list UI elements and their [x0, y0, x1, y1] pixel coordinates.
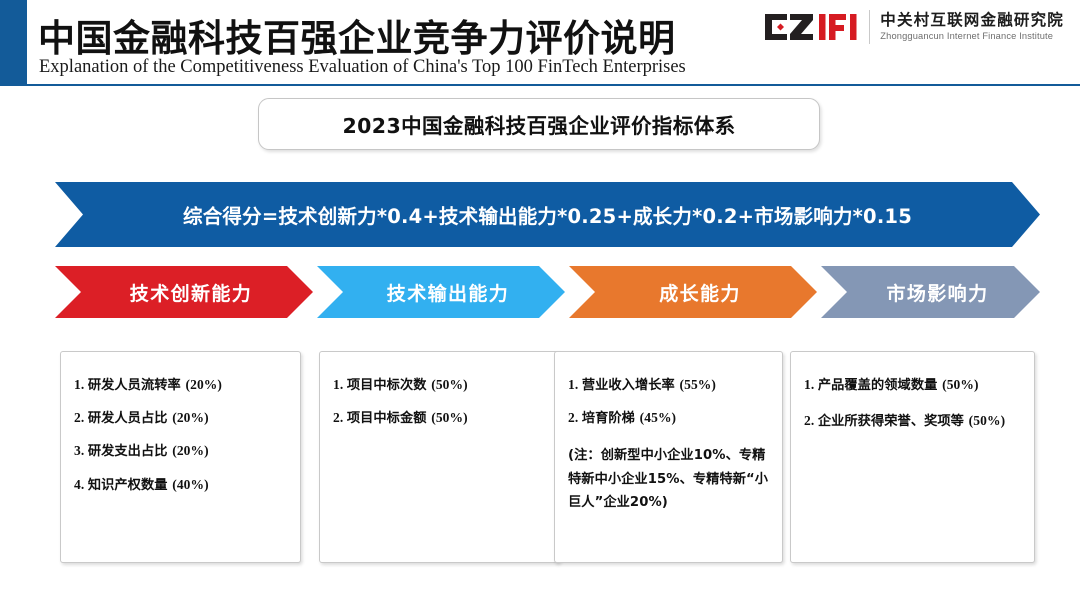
- score-formula-banner: 综合得分=技术创新力*0.4+技术输出能力*0.25+成长力*0.2+市场影响力…: [55, 182, 1040, 247]
- header-divider-rule: [0, 84, 1080, 86]
- indicator-name: 培育阶梯: [582, 411, 640, 426]
- indicator-card-tech-output: 1. 项目中标次数 (50%)2. 项目中标金额 (50%): [319, 351, 560, 563]
- indicator-card-market-influence: 1. 产品覆盖的领域数量 (50%)2. 企业所获得荣誉、奖项等 (50%): [790, 351, 1035, 563]
- indicator-weight: (45%): [640, 410, 677, 425]
- indicator-item: 3. 研发支出占比 (20%): [74, 444, 287, 458]
- category-chevron-tech-output: 技术输出能力: [317, 266, 565, 318]
- category-chevron-row: 技术创新能力 技术输出能力 成长能力 市场影响力: [55, 266, 1040, 318]
- indicator-item: 1. 项目中标次数 (50%): [333, 378, 546, 392]
- indicator-weight: (20%): [172, 443, 209, 458]
- category-label: 技术输出能力: [373, 279, 509, 306]
- indicator-name: 企业所获得荣誉、奖项等: [818, 414, 969, 429]
- indicator-index: 4.: [74, 477, 88, 492]
- category-label: 成长能力: [645, 279, 741, 306]
- category-chevron-tech-innovation: 技术创新能力: [55, 266, 313, 318]
- indicator-name: 知识产权数量: [88, 478, 172, 493]
- indicator-name: 研发支出占比: [88, 444, 172, 459]
- indicator-weight: (50%): [431, 410, 468, 425]
- logo-name-cn: 中关村互联网金融研究院: [880, 12, 1064, 29]
- indicator-name: 营业收入增长率: [582, 378, 680, 393]
- indicator-name: 研发人员占比: [88, 411, 172, 426]
- indicator-name: 研发人员流转率: [88, 378, 186, 393]
- indicator-name: 产品覆盖的领域数量: [818, 378, 942, 393]
- indicator-weight: (55%): [680, 377, 717, 392]
- indicator-index: 1.: [568, 377, 582, 392]
- category-chevron-market-influence: 市场影响力: [821, 266, 1040, 318]
- indicator-index: 1.: [804, 377, 818, 392]
- category-label: 技术创新能力: [116, 279, 252, 306]
- indicator-item: 1. 产品覆盖的领域数量 (50%): [804, 378, 1021, 392]
- indicator-index: 3.: [74, 443, 88, 458]
- indicator-item: 2. 培育阶梯 (45%): [568, 411, 769, 425]
- indicator-item: 4. 知识产权数量 (40%): [74, 478, 287, 492]
- indicator-weight: (20%): [172, 410, 209, 425]
- indicator-item: 1. 营业收入增长率 (55%): [568, 378, 769, 392]
- indicator-index: 1.: [74, 377, 88, 392]
- indicator-weight: (50%): [942, 377, 979, 392]
- indicator-weight: (40%): [172, 477, 209, 492]
- page-title-en: Explanation of the Competitiveness Evalu…: [39, 57, 686, 78]
- index-system-title-text: 2023中国金融科技百强企业评价指标体系: [342, 109, 735, 139]
- index-system-title-box: 2023中国金融科技百强企业评价指标体系: [258, 98, 820, 150]
- indicator-index: 2.: [74, 410, 88, 425]
- indicator-card-row: 1. 研发人员流转率 (20%)2. 研发人员占比 (20%)3. 研发支出占比…: [60, 351, 1035, 563]
- slide-root: 中国金融科技百强企业竞争力评价说明 Explanation of the Com…: [0, 0, 1080, 608]
- indicator-item: 1. 研发人员流转率 (20%): [74, 378, 287, 392]
- logo-text-block: 中关村互联网金融研究院 Zhongguancun Internet Financ…: [880, 12, 1064, 42]
- indicator-index: 2.: [804, 413, 818, 428]
- category-chevron-growth: 成长能力: [569, 266, 817, 318]
- logo-divider: [869, 10, 870, 44]
- indicator-item: 2. 研发人员占比 (20%): [74, 411, 287, 425]
- indicator-item: 2. 企业所获得荣誉、奖项等 (50%): [804, 411, 1021, 432]
- indicator-weight: (20%): [186, 377, 223, 392]
- institute-logo: 中关村互联网金融研究院 Zhongguancun Internet Financ…: [763, 10, 1064, 44]
- indicator-index: 2.: [568, 410, 582, 425]
- indicator-card-tech-innovation: 1. 研发人员流转率 (20%)2. 研发人员占比 (20%)3. 研发支出占比…: [60, 351, 301, 563]
- indicator-index: 1.: [333, 377, 347, 392]
- indicator-name: 项目中标金额: [347, 411, 431, 426]
- indicator-item: 2. 项目中标金额 (50%): [333, 411, 546, 425]
- page-title-cn: 中国金融科技百强企业竞争力评价说明: [38, 8, 676, 62]
- indicator-note: (注：创新型中小企业10%、专精特新中小企业15%、专精特新“小巨人”企业20%…: [568, 444, 769, 515]
- category-label: 市场影响力: [872, 279, 988, 306]
- czifi-logomark-icon: [763, 12, 859, 42]
- header-accent-bar: [0, 0, 27, 84]
- indicator-name: 项目中标次数: [347, 378, 431, 393]
- indicator-index: 2.: [333, 410, 347, 425]
- indicator-card-growth: 1. 营业收入增长率 (55%)2. 培育阶梯 (45%)(注：创新型中小企业1…: [554, 351, 783, 563]
- score-formula-text: 综合得分=技术创新力*0.4+技术输出能力*0.25+成长力*0.2+市场影响力…: [183, 200, 912, 229]
- indicator-weight: (50%): [431, 377, 468, 392]
- logo-name-en: Zhongguancun Internet Finance Institute: [880, 31, 1064, 41]
- indicator-weight: (50%): [969, 413, 1006, 428]
